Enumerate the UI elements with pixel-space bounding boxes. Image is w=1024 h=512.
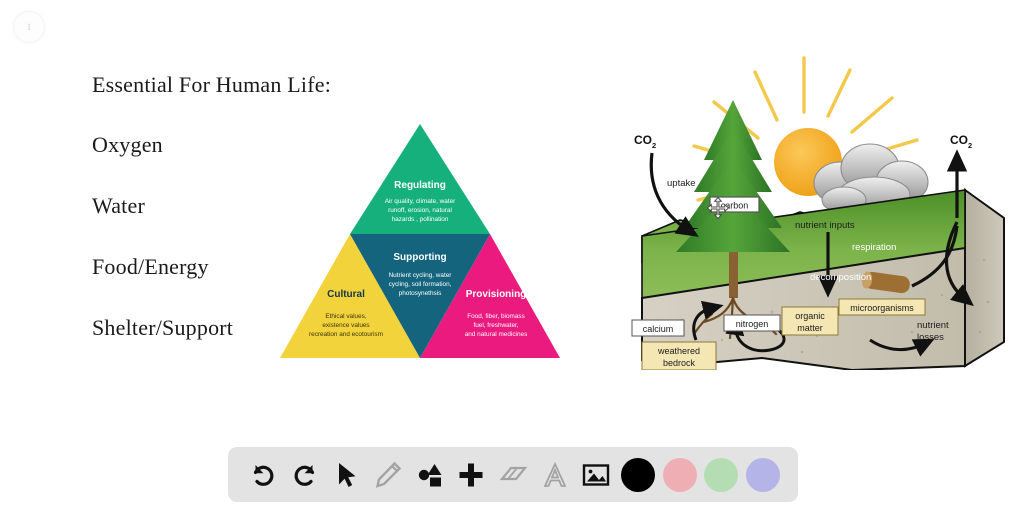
nitrogen-label-box[interactable]: nitrogen	[724, 315, 780, 331]
weathered-bedrock-label-box[interactable]: weathered bedrock	[642, 342, 716, 370]
uptake-arrow	[651, 153, 688, 230]
co2-label-right-subscript: 2	[968, 141, 972, 150]
triangle-body-supporting-line1: Nutrient cycling, water	[389, 272, 453, 279]
calcium-label: calcium	[643, 324, 674, 334]
undo-button[interactable]	[242, 452, 284, 498]
page-title: Essential For Human Life:	[92, 72, 372, 98]
color-swatch-black-wrap[interactable]	[617, 452, 659, 498]
decomposition-label: decomposition	[810, 272, 871, 283]
add-tool[interactable]	[450, 452, 492, 498]
cursor-icon	[331, 460, 361, 490]
weathered-bedrock-label-line1: weathered	[657, 346, 700, 356]
triangle-body-provisioning-line1: Food, fiber, biomass	[467, 313, 525, 320]
organic-matter-label-box[interactable]: organic matter	[782, 307, 838, 335]
color-swatch-purple-wrap[interactable]	[742, 452, 784, 498]
select-tool[interactable]	[325, 452, 367, 498]
triangle-body-cultural-line2: existence values	[322, 322, 369, 329]
eraser-tool[interactable]	[492, 452, 534, 498]
redo-icon	[290, 460, 320, 490]
slide-canvas[interactable]: 1 Essential For Human Life: Oxygen Water…	[0, 0, 1024, 512]
triangle-heading-supporting: Supporting	[393, 252, 446, 263]
color-swatch-black[interactable]	[621, 458, 655, 492]
nutrient-losses-label-line2: losses	[917, 332, 944, 343]
color-swatch-green[interactable]	[704, 458, 738, 492]
triangle-heading-cultural: Cultural	[327, 289, 365, 300]
image-tool[interactable]	[576, 452, 618, 498]
drawing-toolbar[interactable]	[228, 447, 798, 502]
color-swatch-pink-wrap[interactable]	[659, 452, 701, 498]
microorganisms-label: microorganisms	[850, 303, 914, 313]
uptake-label: uptake	[667, 178, 696, 189]
slide-number: 1	[27, 22, 32, 32]
triangle-heading-provisioning: Provisioning	[466, 289, 527, 300]
pencil-tool[interactable]	[367, 452, 409, 498]
organic-matter-label-line1: organic	[795, 311, 825, 321]
triangle-body-regulating-line2: runoff, erosion, natural	[388, 207, 452, 214]
shapes-tool[interactable]	[409, 452, 451, 498]
calcium-label-box[interactable]: calcium	[632, 320, 684, 336]
eraser-icon	[498, 460, 528, 490]
co2-label-left-subscript: 2	[652, 141, 656, 150]
color-swatch-purple[interactable]	[746, 458, 780, 492]
redo-button[interactable]	[284, 452, 326, 498]
triangle-body-regulating-line3: hazards , pollination	[392, 216, 449, 223]
nitrogen-label: nitrogen	[736, 319, 769, 329]
pencil-icon	[373, 460, 403, 490]
nutrient-inputs-label: nutrient inputs	[795, 220, 855, 231]
organic-matter-label-line2: matter	[797, 323, 823, 333]
shapes-icon	[415, 460, 445, 490]
nutrient-cycle-diagram[interactable]: CO 2 uptake CO 2 nutrient inputs respira…	[612, 40, 1012, 370]
microorganisms-label-box[interactable]: microorganisms	[839, 299, 925, 315]
triangle-body-cultural-line3: recreation and ecotourism	[309, 331, 383, 338]
triangle-body-supporting-line3: photosynethsis	[399, 290, 442, 297]
respiration-label: respiration	[852, 242, 896, 253]
ecosystem-services-triangle[interactable]: Regulating Air quality, climate, water r…	[272, 124, 568, 358]
co2-label-left: CO	[634, 133, 652, 147]
triangle-heading-regulating: Regulating	[394, 180, 446, 191]
text-tool[interactable]	[534, 452, 576, 498]
triangle-body-regulating-line1: Air quality, climate, water	[385, 198, 456, 205]
co2-label-right: CO	[950, 133, 968, 147]
nutrient-losses-label-line1: nutrient	[917, 320, 949, 331]
undo-icon	[248, 460, 278, 490]
move-cursor	[706, 196, 730, 220]
image-icon	[581, 460, 611, 490]
color-swatch-pink[interactable]	[663, 458, 697, 492]
text-a-icon	[540, 460, 570, 490]
slide-number-badge: 1	[14, 12, 44, 42]
triangle-body-provisioning-line2: fuel, freshwater,	[473, 322, 518, 329]
triangle-body-supporting-line2: cycling, soil formation,	[389, 281, 452, 288]
plus-icon	[456, 460, 486, 490]
soil-block-right-face	[965, 190, 1004, 366]
triangle-body-cultural-line1: Ethical values,	[325, 313, 366, 320]
triangle-body-provisioning-line3: and natural medicines	[465, 331, 528, 338]
weathered-bedrock-label-line2: bedrock	[663, 358, 696, 368]
color-swatch-green-wrap[interactable]	[701, 452, 743, 498]
